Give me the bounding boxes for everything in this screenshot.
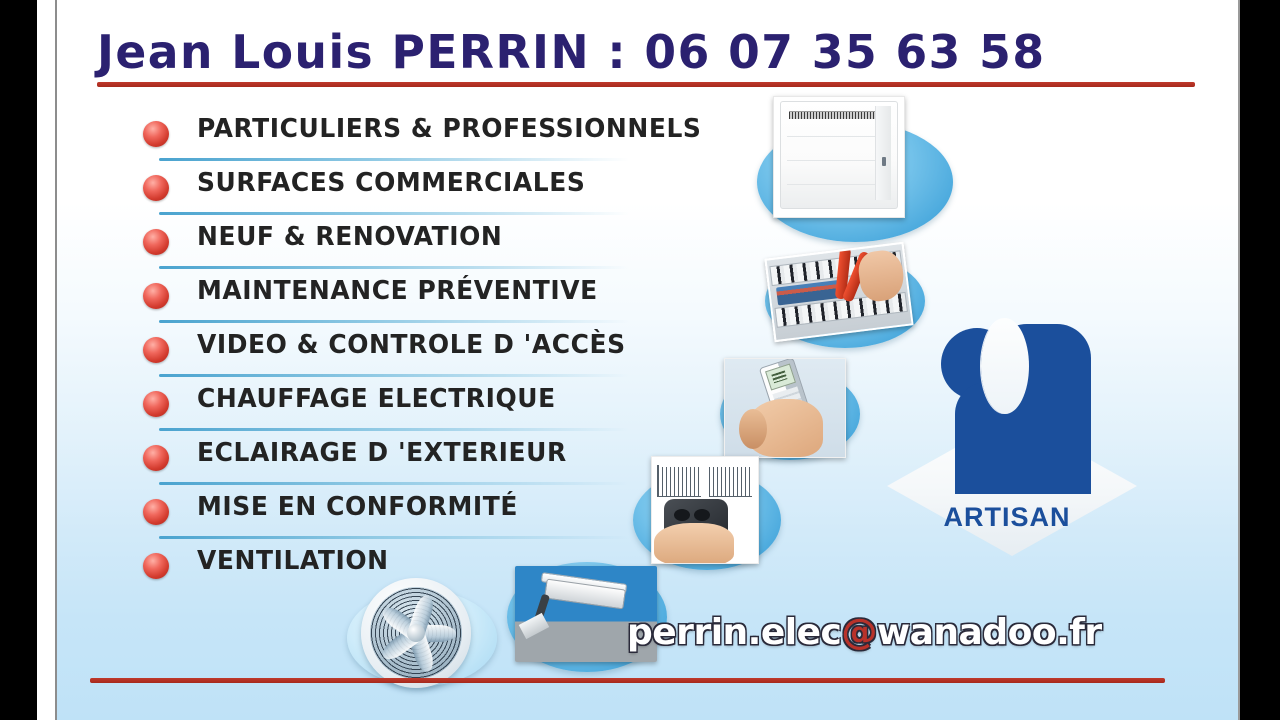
service-label: MAINTENANCE PRÉVENTIVE [197, 276, 598, 306]
at-symbol-icon: @ [841, 612, 877, 653]
list-item: PARTICULIERS & PROFESSIONNELS [87, 110, 727, 164]
header-divider [97, 82, 1195, 87]
fan-hub [407, 624, 425, 642]
artisan-logo: ARTISAN [837, 320, 1177, 570]
bullet-icon [143, 445, 169, 471]
header: Jean Louis PERRIN : 06 07 35 63 58 [97, 24, 1207, 80]
gate-remote-image [651, 456, 759, 564]
service-label: PARTICULIERS & PROFESSIONNELS [197, 114, 701, 144]
item-divider [159, 212, 629, 215]
radiator-knob-icon [882, 157, 886, 166]
gate-illustrations [652, 461, 758, 499]
fan-grill-shape [370, 587, 462, 679]
item-divider [159, 374, 629, 377]
email-local-part: perrin.elec [627, 612, 841, 653]
service-label: CHAUFFAGE ELECTRIQUE [197, 384, 556, 414]
ventilation-fan-photo [343, 574, 501, 694]
slide-stage: Jean Louis PERRIN : 06 07 35 63 58 PARTI… [0, 0, 1280, 720]
page-edge-line-left [55, 0, 57, 720]
artisan-figure-icon [941, 324, 1091, 494]
figure-negative-space [981, 318, 1029, 414]
bullet-icon [143, 175, 169, 201]
page-title: Jean Louis PERRIN : 06 07 35 63 58 [97, 24, 1196, 80]
bullet-icon [143, 337, 169, 363]
radiator-image [773, 96, 905, 218]
item-divider [159, 158, 629, 161]
service-label: NEUF & RENOVATION [197, 222, 502, 252]
remote-screen [765, 364, 796, 391]
contact-email: perrin.elec@wanadoo.fr [627, 612, 1102, 653]
hand-shape [747, 399, 823, 457]
swing-gate-icon [656, 461, 703, 499]
camera-wall-bracket [519, 613, 549, 639]
remote-image [724, 358, 846, 458]
radiator-control-panel [875, 106, 891, 200]
service-label: VIDEO & CONTROLE D 'ACCÈS [197, 330, 626, 360]
electric-radiator-photo [723, 96, 973, 244]
item-divider [159, 536, 629, 539]
flyer-card: Jean Louis PERRIN : 06 07 35 63 58 PARTI… [57, 0, 1240, 720]
fan-housing-shape [361, 578, 471, 688]
service-label: VENTILATION [197, 546, 389, 576]
item-divider [159, 482, 629, 485]
bullet-icon [143, 499, 169, 525]
bullet-icon [143, 283, 169, 309]
bullet-icon [143, 229, 169, 255]
radiator-grill-shape [789, 111, 877, 119]
service-label: MISE EN CONFORMITÉ [197, 492, 518, 522]
radiator-body-shape [780, 101, 898, 209]
sliding-gate-icon [707, 461, 754, 499]
bullet-icon [143, 553, 169, 579]
page-gutter-left [37, 0, 55, 720]
service-label: ECLAIRAGE D 'EXTERIEUR [197, 438, 567, 468]
letterbox-bar-left [0, 0, 37, 720]
item-divider [159, 320, 629, 323]
list-item: VIDEO & CONTROLE D 'ACCÈS [87, 326, 727, 380]
service-label: SURFACES COMMERCIALES [197, 168, 585, 198]
bullet-icon [143, 391, 169, 417]
footer-divider [90, 678, 1165, 683]
list-item: MAINTENANCE PRÉVENTIVE [87, 272, 727, 326]
item-divider [159, 266, 629, 269]
email-domain-part: wanadoo.fr [877, 612, 1102, 653]
list-item: CHAUFFAGE ELECTRIQUE [87, 380, 727, 434]
letterbox-bar-right [1240, 0, 1280, 720]
bullet-icon [143, 121, 169, 147]
list-item: SURFACES COMMERCIALES [87, 164, 727, 218]
list-item: NEUF & RENOVATION [87, 218, 727, 272]
artisan-logo-label: ARTISAN [837, 502, 1177, 533]
gate-remote-photo [629, 456, 789, 572]
item-divider [159, 428, 629, 431]
